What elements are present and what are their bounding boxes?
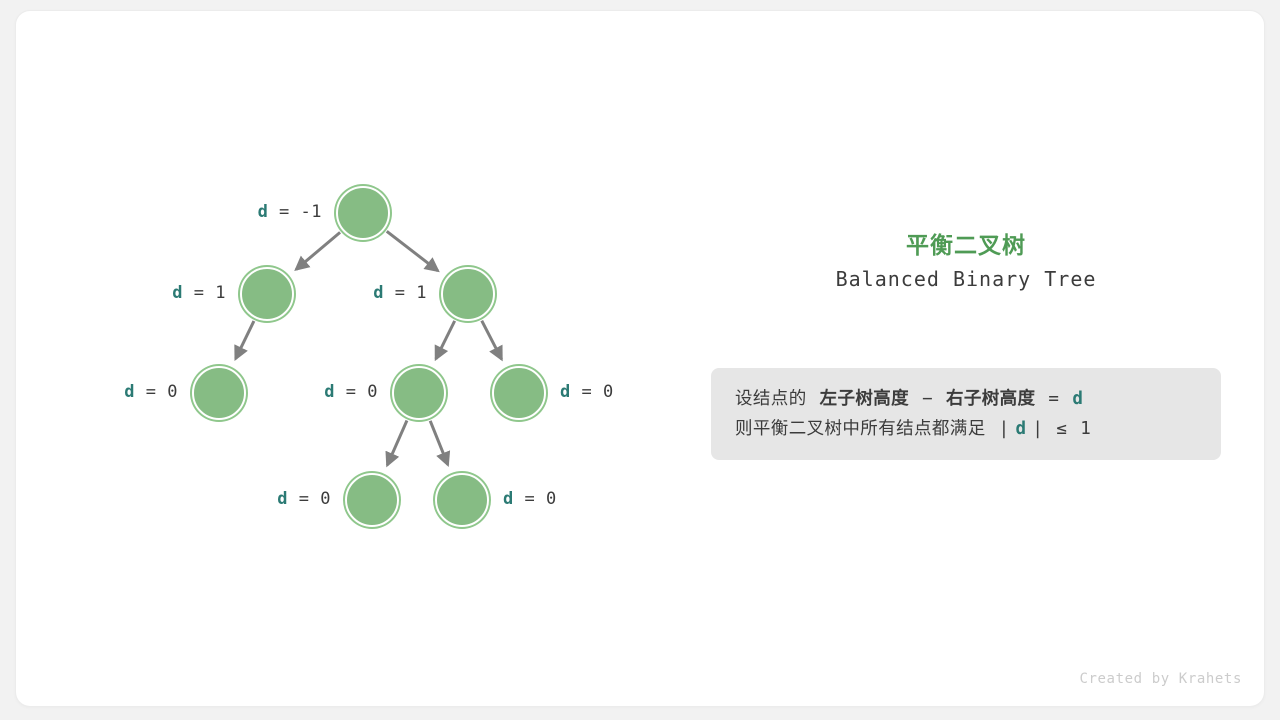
max-balance-value: 1 [1080,419,1091,439]
tree-node-n-r[interactable] [441,267,495,321]
tree-edge [236,321,254,359]
node-balance-label-n-rll: d = 0 [277,489,331,509]
tree-node-n-rll[interactable] [345,473,399,527]
left-subtree-height-term: 左子树高度 [820,389,910,409]
credit-text: Created by Krahets [1079,671,1242,687]
node-balance-label-n-ll: d = 0 [124,382,178,402]
tree-node-n-ll[interactable] [192,366,246,420]
minus-operator: − [922,389,933,409]
node-balance-label-n-l: d = 1 [172,283,226,303]
node-balance-label-n-r: d = 1 [373,283,427,303]
tree-node-n-rl[interactable] [392,366,446,420]
node-balance-label-n-rlr: d = 0 [503,489,557,509]
tree-node-root[interactable] [336,186,390,240]
diagram-canvas: d = -1d = 1d = 1d = 0d = 0d = 0d = 0d = … [16,11,1264,706]
definition-prefix: 设结点的 [735,389,807,409]
abs-bar-left: | [999,419,1010,439]
tree-edge [387,231,438,270]
d-variable-abs: d [1015,419,1026,439]
balance-condition-prefix: 则平衡二叉树中所有结点都满足 [735,419,986,439]
right-subtree-height-term: 右子树高度 [946,389,1036,409]
tree-edge [387,420,407,465]
tree-edge [430,421,448,465]
tree-edge [296,232,340,269]
node-balance-label-n-rr: d = 0 [560,382,614,402]
tree-edge [482,321,502,360]
definition-line-1: 设结点的 左子树高度 − 右子树高度 = d [711,384,1221,414]
tree-edges [16,11,716,706]
page-title-cn: 平衡二叉树 [696,226,1236,260]
definition-box: 设结点的 左子树高度 − 右子树高度 = d 则平衡二叉树中所有结点都满足 | … [711,368,1221,460]
definition-line-2: 则平衡二叉树中所有结点都满足 | d | ≤ 1 [711,414,1221,444]
tree-node-n-l[interactable] [240,267,294,321]
tree-edge [436,321,455,359]
binary-tree-diagram: d = -1d = 1d = 1d = 0d = 0d = 0d = 0d = … [16,11,716,706]
d-variable: d [1072,389,1083,409]
abs-bar-right: | [1032,419,1043,439]
tree-node-n-rr[interactable] [492,366,546,420]
node-balance-label-n-rl: d = 0 [324,382,378,402]
page-title-en: Balanced Binary Tree [696,267,1236,291]
less-equal-operator: ≤ [1056,419,1067,439]
tree-node-n-rlr[interactable] [435,473,489,527]
info-panel: 平衡二叉树 Balanced Binary Tree 设结点的 左子树高度 − … [696,11,1264,706]
equals-operator: = [1048,389,1059,409]
node-balance-label-root: d = -1 [258,202,322,222]
